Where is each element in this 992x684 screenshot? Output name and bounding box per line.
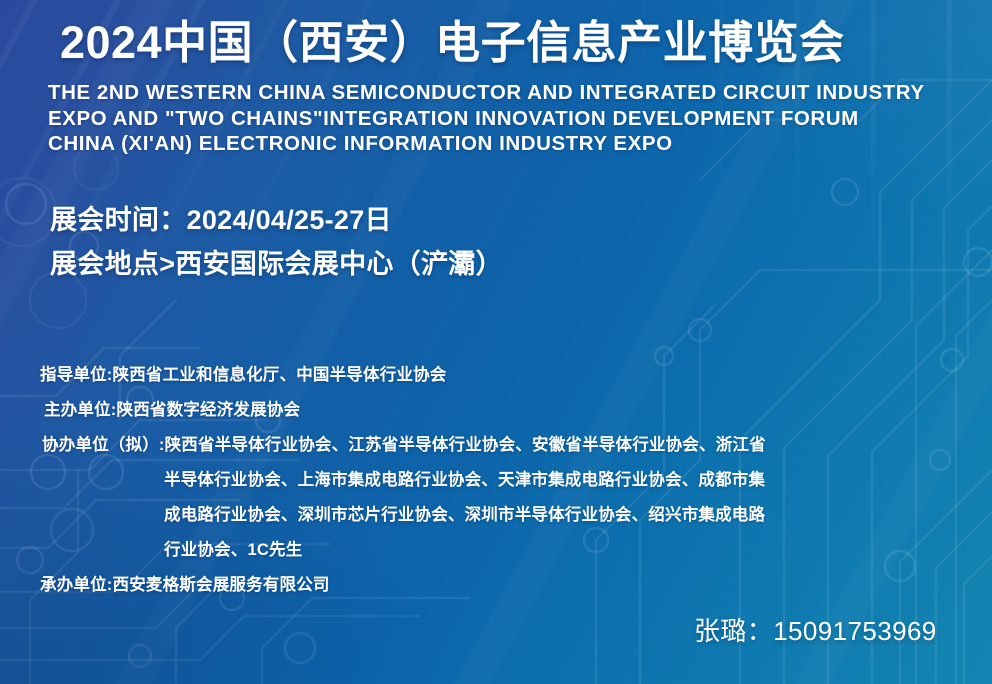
organizer-coorganizer-cont-3: 行业协会、1C先生 (40, 533, 940, 568)
page-title: 2024中国（西安）电子信息产业博览会 (60, 16, 845, 69)
organizer-undertaker-unit: 承办单位:西安麦格斯会展服务有限公司 (40, 568, 940, 603)
organizer-guidance-unit: 指导单位:陕西省工业和信息化厅、中国半导体行业协会 (40, 358, 940, 393)
contact-info: 张璐：15091753969 (694, 611, 937, 648)
event-date: 展会时间：2024/04/25-27日 (50, 198, 503, 242)
organizer-coorganizer-unit: 协办单位（拟）:陕西省半导体行业协会、江苏省半导体行业协会、安徽省半导体行业协会… (40, 428, 940, 463)
organizer-host-unit: 主办单位:陕西省数字经济发展协会 (40, 393, 940, 428)
english-subtitle-line-2: EXPO AND "TWO CHAINS"INTEGRATION INNOVAT… (48, 106, 978, 132)
english-subtitle-line-1: THE 2ND WESTERN CHINA SEMICONDUCTOR AND … (48, 80, 978, 106)
organizer-coorganizer-cont-2: 成电路行业协会、深圳市芯片行业协会、深圳市半导体行业协会、绍兴市集成电路 (40, 498, 940, 533)
event-meta-block: 展会时间：2024/04/25-27日 展会地点>西安国际会展中心（浐灞） (50, 198, 503, 286)
english-subtitle-line-3: CHINA (XI'AN) ELECTRONIC INFORMATION IND… (48, 131, 978, 157)
poster-content: 2024中国（西安）电子信息产业博览会 THE 2ND WESTERN CHIN… (0, 0, 992, 684)
organizers-block: 指导单位:陕西省工业和信息化厅、中国半导体行业协会 主办单位:陕西省数字经济发展… (40, 358, 940, 603)
poster-canvas: 2024中国（西安）电子信息产业博览会 THE 2ND WESTERN CHIN… (0, 0, 992, 684)
english-subtitle-block: THE 2ND WESTERN CHINA SEMICONDUCTOR AND … (48, 80, 978, 157)
event-venue: 展会地点>西安国际会展中心（浐灞） (50, 242, 503, 286)
organizer-coorganizer-cont-1: 半导体行业协会、上海市集成电路行业协会、天津市集成电路行业协会、成都市集 (40, 463, 940, 498)
